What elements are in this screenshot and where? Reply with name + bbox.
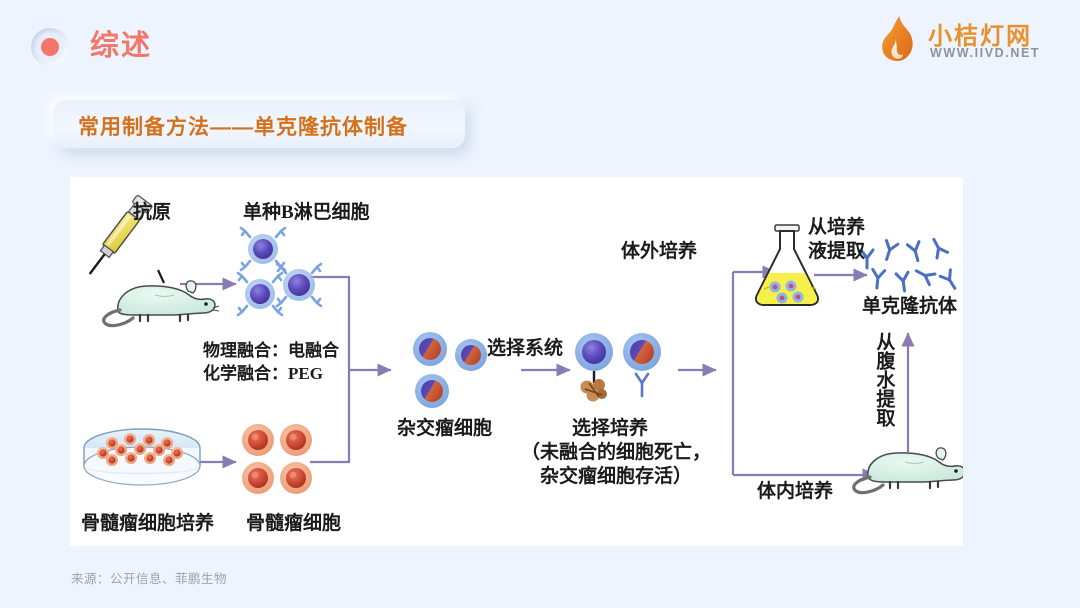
label-selection-system: 选择系统 xyxy=(487,337,563,361)
label-fusion-physical: 物理融合：电融合 xyxy=(203,340,339,362)
subtitle-text: 常用制备方法——单克隆抗体制备 xyxy=(78,111,408,141)
section-title: 综述 xyxy=(90,24,152,68)
label-myeloma-cells: 骨髓瘤细胞 xyxy=(246,512,341,536)
slide-header: 综述 小桔灯网 WWW.IIVD.NET xyxy=(0,0,1080,86)
label-antigen: 抗原 xyxy=(133,201,171,225)
label-in-vitro-culture: 体外培养 xyxy=(621,240,697,264)
brand-url: WWW.IIVD.NET xyxy=(930,46,1040,60)
label-hybridoma-cells: 杂交瘤细胞 xyxy=(397,417,492,441)
hybridoma-cells-icon xyxy=(413,332,487,408)
flame-icon xyxy=(876,14,920,64)
diagram-panel: 抗原 单种B淋巴细胞 物理融合：电融合 化学融合：PEG 骨髓瘤细胞培养 骨髓瘤… xyxy=(70,177,963,546)
brand-logo[interactable]: 小桔灯网 WWW.IIVD.NET xyxy=(876,12,1062,70)
myeloma-cells-icon xyxy=(242,424,312,494)
source-note: 来源：公开信息、菲鹏生物 xyxy=(71,568,227,587)
label-extract-from-ascites: 从腹水提取 xyxy=(871,332,895,427)
selection-cells-icon xyxy=(575,333,661,402)
label-fusion-chemical: 化学融合：PEG xyxy=(203,363,323,385)
b-lymphocyte-cells-icon xyxy=(238,228,321,315)
label-in-vivo-culture: 体内培养 xyxy=(757,480,833,504)
label-selection-culture-note: （未融合的细胞死亡， 杂交瘤细胞存活） xyxy=(512,441,720,490)
label-extract-from-medium: 从培养 液提取 xyxy=(808,216,874,265)
secreted-antibody-icon xyxy=(636,374,648,396)
mouse-immunized-icon xyxy=(104,281,219,326)
mouse-ascites-icon xyxy=(854,448,963,493)
label-b-lymphocyte: 单种B淋巴细胞 xyxy=(243,201,370,225)
dot-icon xyxy=(41,38,59,56)
petri-dish-icon xyxy=(84,429,200,485)
label-myeloma-culture: 骨髓瘤细胞培养 xyxy=(81,512,214,536)
label-monoclonal-antibody: 单克隆抗体 xyxy=(862,295,957,319)
antibody-cluster-icon xyxy=(861,236,960,291)
subtitle-pill: 常用制备方法——单克隆抗体制备 xyxy=(53,100,465,148)
label-selection-culture: 选择培养 xyxy=(572,417,648,441)
section-bullet-icon xyxy=(31,28,69,66)
dying-cell-debris xyxy=(581,379,608,402)
